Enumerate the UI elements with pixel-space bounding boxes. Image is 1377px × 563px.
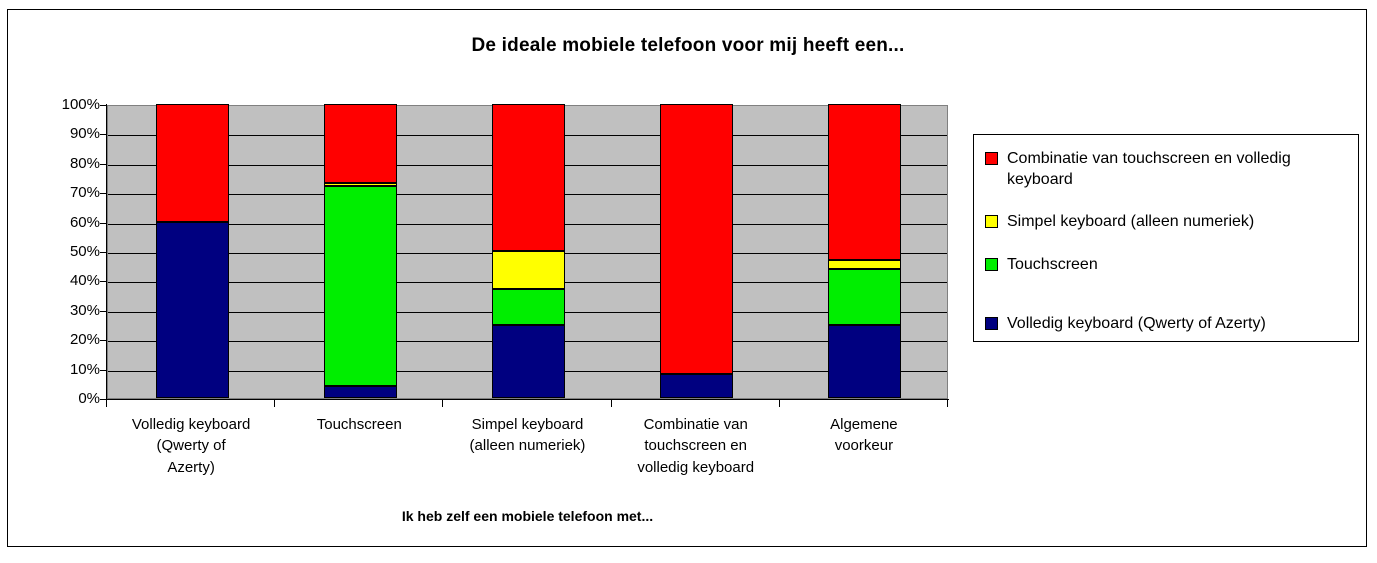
legend-item[interactable]: Volledig keyboard (Qwerty of Azerty) — [985, 314, 1347, 335]
bar-stack[interactable] — [660, 104, 733, 398]
bar-segment[interactable] — [492, 289, 565, 324]
y-axis-tick-label: 40% — [38, 273, 100, 288]
x-axis-line — [106, 399, 949, 400]
x-axis-category-label: Volledig keyboard(Qwerty ofAzerty) — [107, 414, 275, 478]
legend-item[interactable]: Simpel keyboard (alleen numeriek) — [985, 212, 1347, 233]
y-axis-tick-label: 50% — [38, 244, 100, 259]
x-axis-category-label-line: Algemene — [780, 414, 948, 435]
bar-segment[interactable] — [828, 104, 901, 260]
x-axis-title: Ik heb zelf een mobiele telefoon met... — [107, 508, 948, 524]
y-axis-tick-label: 0% — [38, 391, 100, 406]
chart-title: De ideale mobiele telefoon voor mij heef… — [8, 35, 1368, 57]
bar-segment[interactable] — [324, 386, 397, 398]
bar-segment[interactable] — [492, 104, 565, 251]
legend-label: Combinatie van touchscreen en volledig k… — [1007, 149, 1347, 191]
bar-segment[interactable] — [492, 325, 565, 399]
legend-swatch-icon — [985, 215, 998, 228]
x-axis-category-label-line: Combinatie van — [612, 414, 780, 435]
x-axis-category-label-line: volledig keyboard — [612, 457, 780, 478]
x-axis-category-label-line: touchscreen en — [612, 435, 780, 456]
x-axis-category-label: Combinatie vantouchscreen envolledig key… — [612, 414, 780, 478]
bar-segment[interactable] — [324, 104, 397, 183]
x-axis-tick — [947, 400, 948, 407]
x-axis-category-label-line: Volledig keyboard — [107, 414, 275, 435]
bar-segment[interactable] — [492, 251, 565, 289]
bar-stack[interactable] — [156, 104, 229, 398]
y-axis-tick-label: 60% — [38, 215, 100, 230]
x-axis-category-label: Touchscreen — [275, 414, 443, 435]
bar-segment[interactable] — [828, 269, 901, 325]
x-axis-category-label-line: (Qwerty of — [107, 435, 275, 456]
y-axis-tick-label: 90% — [38, 126, 100, 141]
x-axis-category-label-line: (alleen numeriek) — [443, 435, 611, 456]
chart-legend: Combinatie van touchscreen en volledig k… — [973, 134, 1359, 342]
y-axis-tick-label: 30% — [38, 303, 100, 318]
bar-segment[interactable] — [660, 104, 733, 374]
bar-stack[interactable] — [324, 104, 397, 398]
y-axis-tick-label: 70% — [38, 185, 100, 200]
legend-item[interactable]: Combinatie van touchscreen en volledig k… — [985, 149, 1347, 191]
bar-segment[interactable] — [660, 374, 733, 398]
x-axis-tick — [611, 400, 612, 407]
y-axis-tick-label: 100% — [38, 97, 100, 112]
x-axis-tick — [274, 400, 275, 407]
bar-segment[interactable] — [156, 222, 229, 398]
x-axis-category-label: Simpel keyboard(alleen numeriek) — [443, 414, 611, 457]
x-axis-tick — [779, 400, 780, 407]
chart-frame: De ideale mobiele telefoon voor mij heef… — [7, 9, 1367, 547]
legend-label: Simpel keyboard (alleen numeriek) — [1007, 212, 1347, 233]
x-axis-category-label: Algemenevoorkeur — [780, 414, 948, 457]
y-axis-tick-label: 80% — [38, 156, 100, 171]
x-axis-category-label-line: voorkeur — [780, 435, 948, 456]
bar-stack[interactable] — [492, 104, 565, 398]
x-axis-category-label-line: Touchscreen — [275, 414, 443, 435]
plot-area — [107, 105, 948, 399]
bar-segment[interactable] — [324, 183, 397, 186]
x-axis-category-label-line: Simpel keyboard — [443, 414, 611, 435]
bar-segment[interactable] — [324, 186, 397, 386]
plot-area-wrapper — [107, 105, 948, 399]
y-axis-tick-label: 20% — [38, 332, 100, 347]
legend-swatch-icon — [985, 317, 998, 330]
legend-label: Volledig keyboard (Qwerty of Azerty) — [1007, 314, 1347, 335]
legend-swatch-icon — [985, 258, 998, 271]
bar-stack[interactable] — [828, 104, 901, 398]
y-axis-tick-label: 10% — [38, 362, 100, 377]
legend-label: Touchscreen — [1007, 255, 1347, 276]
x-axis-category-label-line: Azerty) — [107, 457, 275, 478]
bar-segment[interactable] — [156, 104, 229, 222]
legend-swatch-icon — [985, 152, 998, 165]
bar-segment[interactable] — [828, 260, 901, 269]
x-axis-tick — [442, 400, 443, 407]
x-axis-tick — [106, 400, 107, 407]
bar-segment[interactable] — [828, 325, 901, 399]
legend-item[interactable]: Touchscreen — [985, 255, 1347, 276]
